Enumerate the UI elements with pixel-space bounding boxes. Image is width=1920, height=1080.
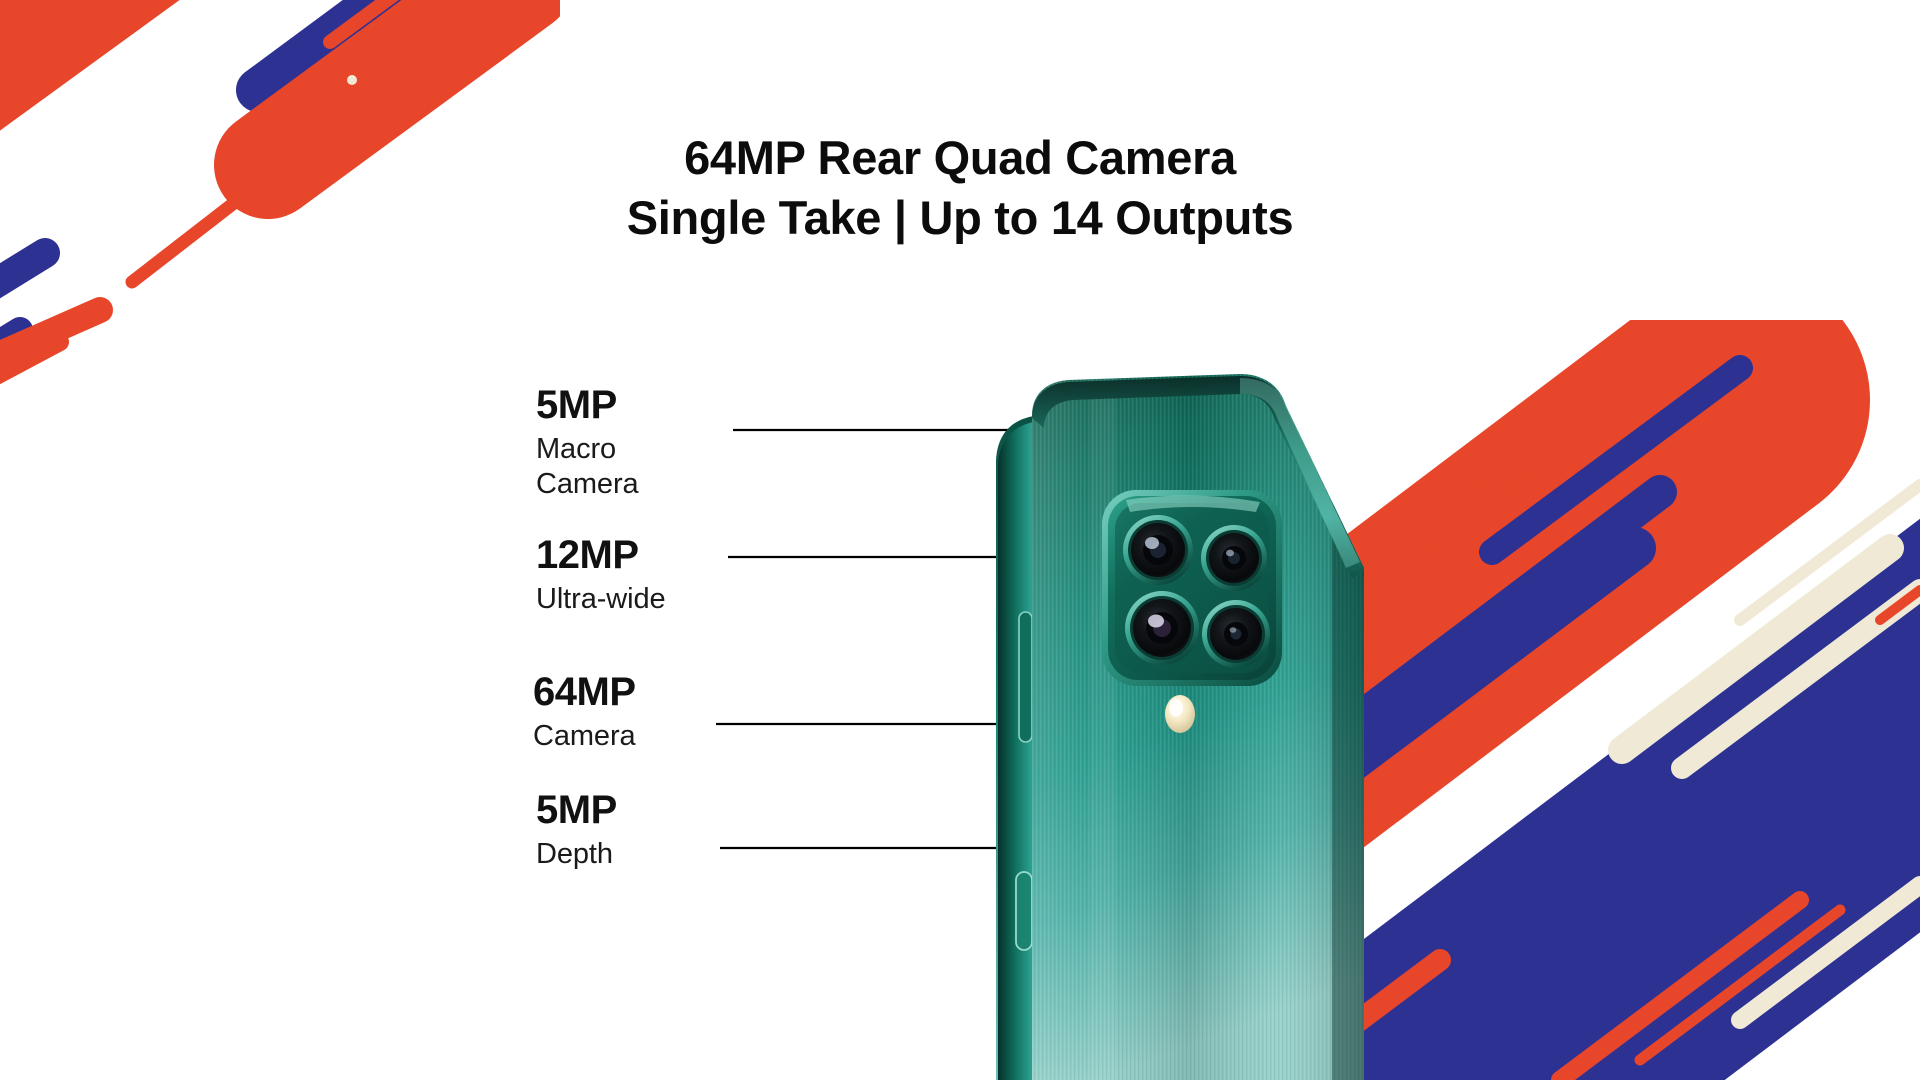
spec-ultrawide-megapixels: 12MP (536, 535, 666, 577)
spec-depth-megapixels: 5MP (536, 790, 617, 832)
spec-macro-desc-line2: Camera (536, 467, 639, 502)
lens-depth (1202, 600, 1270, 668)
camera-module (1102, 490, 1282, 686)
spec-depth-desc-line1: Depth (536, 837, 617, 872)
lens-macro (1201, 525, 1267, 591)
lens-main-camera (1125, 591, 1199, 665)
spec-callout-depth: 5MP Depth (536, 790, 617, 872)
spec-main-desc-line1: Camera (533, 719, 636, 754)
spec-macro-megapixels: 5MP (536, 385, 639, 427)
product-image-smartphone (940, 372, 1370, 1080)
promotional-banner: 64MP Rear Quad Camera Single Take | Up t… (0, 0, 1920, 1080)
led-flash (1165, 695, 1195, 733)
power-button (1016, 872, 1032, 950)
lens-ultrawide (1123, 515, 1193, 585)
spec-callout-main-camera: 64MP Camera (533, 672, 636, 754)
spec-ultrawide-desc-line1: Ultra-wide (536, 582, 666, 617)
spec-callout-macro: 5MP Macro Camera (536, 385, 639, 502)
spec-macro-desc-line1: Macro (536, 432, 639, 467)
spec-main-megapixels: 64MP (533, 672, 636, 714)
spec-callout-ultrawide: 12MP Ultra-wide (536, 535, 666, 617)
phone-back-panel (1032, 372, 1370, 1080)
volume-rocker-button (1019, 612, 1032, 742)
